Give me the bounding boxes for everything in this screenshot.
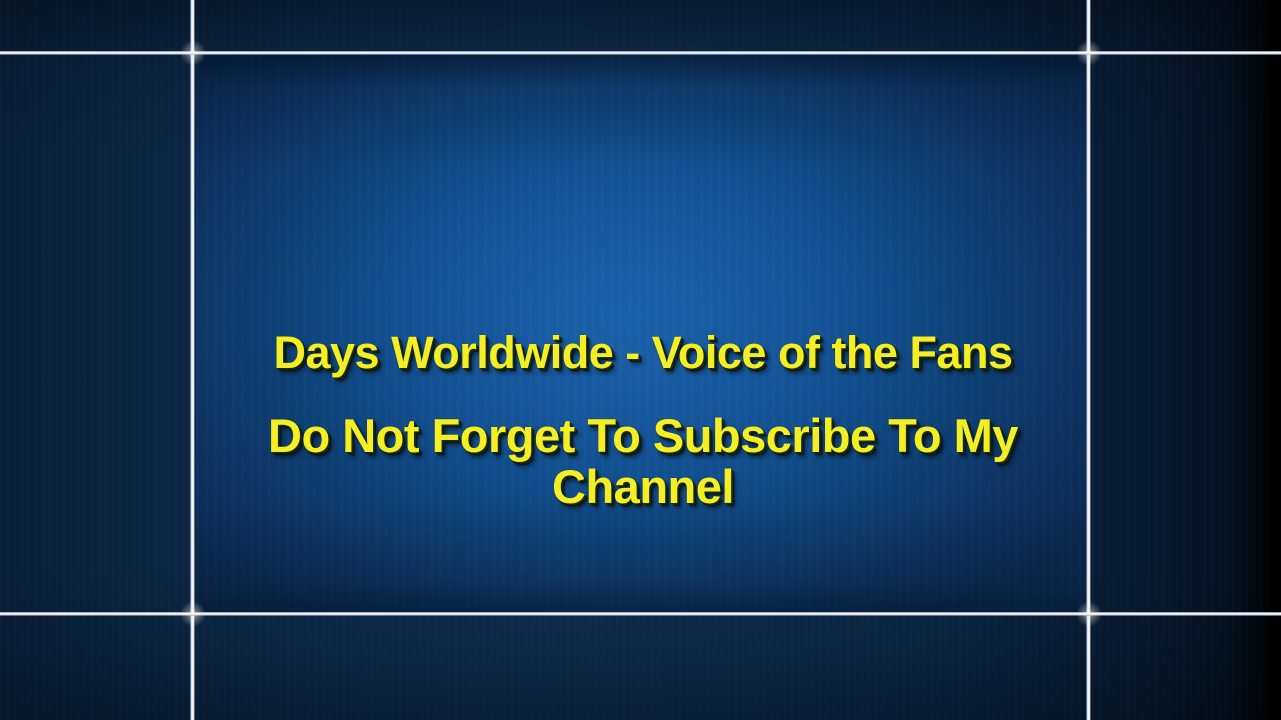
- title-line-primary: Days Worldwide - Voice of the Fans: [274, 329, 1013, 377]
- right-edge-black-bar: [1265, 0, 1281, 720]
- title-line-subscribe-callout: Do Not Forget To Subscribe To My Channel: [243, 411, 1043, 512]
- title-text-block: Days Worldwide - Voice of the Fans Do No…: [196, 55, 1090, 614]
- video-title-card: Days Worldwide - Voice of the Fans Do No…: [0, 0, 1281, 720]
